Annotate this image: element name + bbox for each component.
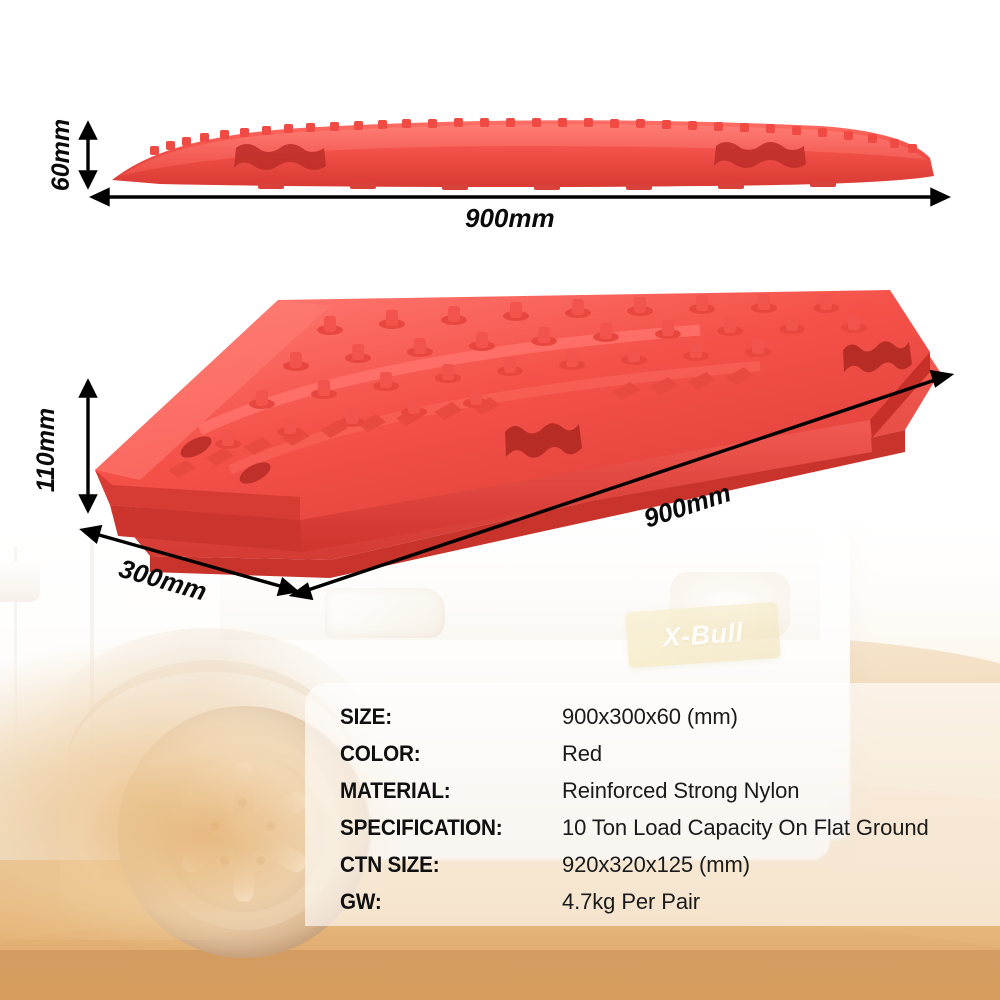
spec-row: GW: 4.7kg Per Pair xyxy=(340,884,1000,919)
spec-value: 10 Ton Load Capacity On Flat Ground xyxy=(562,815,929,841)
product-spec-image: X-Bull xyxy=(0,0,1000,1000)
dim-label-110mm: 110mm xyxy=(0,432,96,468)
spec-label: CTN SIZE: xyxy=(340,852,549,878)
spec-row: COLOR: Red xyxy=(340,736,1000,771)
spec-value: 4.7kg Per Pair xyxy=(562,889,700,915)
spec-label: COLOR: xyxy=(340,741,549,767)
side-view-board xyxy=(112,120,934,190)
spec-value: Reinforced Strong Nylon xyxy=(562,778,799,804)
spec-label: MATERIAL: xyxy=(340,778,549,804)
spec-value: 920x320x125 (mm) xyxy=(562,852,750,878)
spec-label: SIZE: xyxy=(340,704,549,730)
perspective-view-boards xyxy=(95,290,940,578)
dim-label-60mm: 60mm xyxy=(18,140,104,170)
spec-row: SIZE: 900x300x60 (mm) xyxy=(340,699,1000,734)
specification-panel: SIZE: 900x300x60 (mm) COLOR: Red MATERIA… xyxy=(305,683,1000,926)
spec-label: GW: xyxy=(340,889,549,915)
spec-value: Red xyxy=(562,741,602,767)
spec-row: MATERIAL: Reinforced Strong Nylon xyxy=(340,773,1000,808)
spec-value: 900x300x60 (mm) xyxy=(562,704,738,730)
spec-row: CTN SIZE: 920x320x125 (mm) xyxy=(340,847,1000,882)
dim-label-900mm-side: 900mm xyxy=(465,203,555,234)
spec-row: SPECIFICATION: 10 Ton Load Capacity On F… xyxy=(340,810,1000,845)
spec-label: SPECIFICATION: xyxy=(340,815,549,841)
